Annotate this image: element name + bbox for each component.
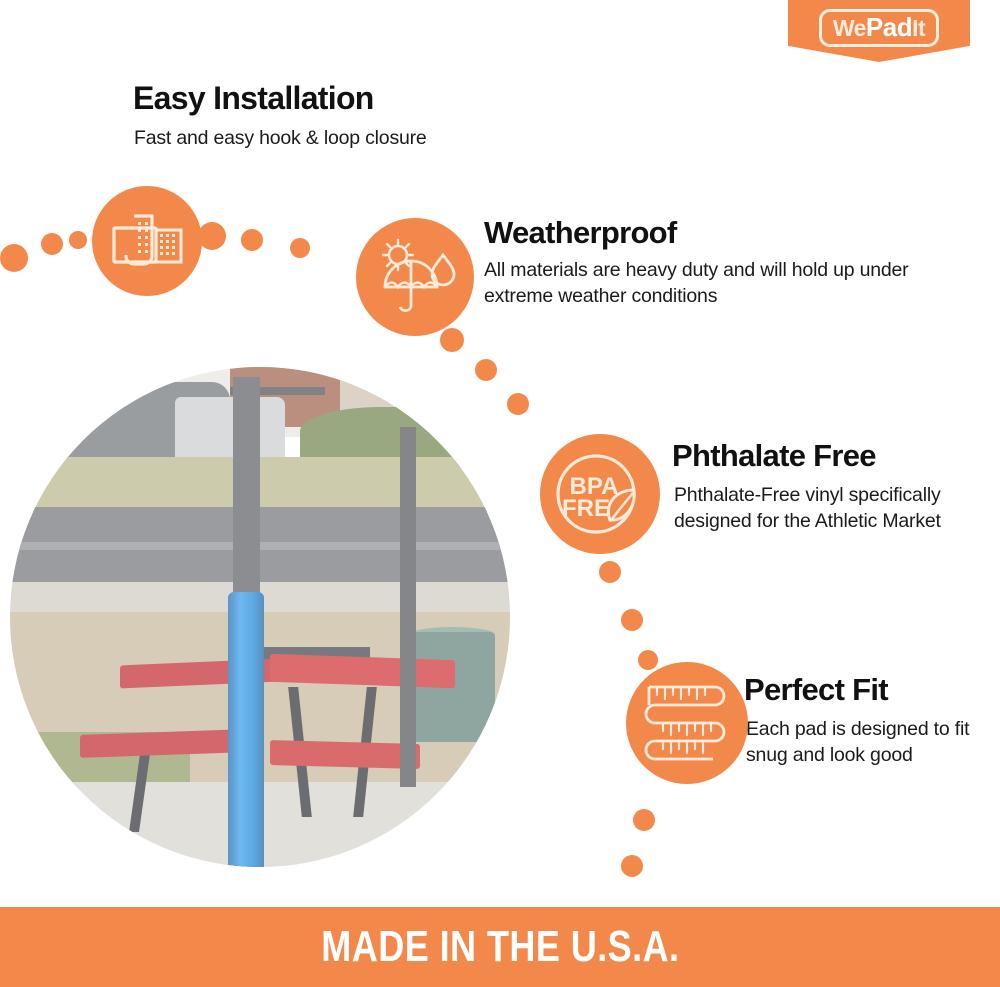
path-dot [599,561,621,583]
product-photo [10,367,510,867]
path-dot [507,393,529,415]
path-dot [440,328,464,352]
logo-text-pad: Pad [866,12,912,42]
feature-title-perfect-fit: Perfect Fit [744,672,888,708]
path-dot [633,809,655,831]
logo-text-it: It [912,15,925,41]
feature-title-phthalate-free: Phthalate Free [672,438,876,474]
feature-body-weatherproof: All materials are heavy duty and will ho… [484,257,914,310]
brand-logo-plate: WePadIt [819,9,939,47]
path-dot [621,855,643,877]
made-in-usa-banner: MADE IN THE U.S.A. [0,907,1000,987]
feature-title-weatherproof: Weatherproof [484,215,677,251]
infographic-page: WePadIt Easy Installation Fast and easy … [0,0,1000,987]
path-dot [41,233,63,255]
path-dot [638,650,658,670]
feature-body-phthalate-free: Phthalate-Free vinyl specifically design… [674,482,944,535]
feature-body-easy-installation: Fast and easy hook & loop closure [134,125,554,151]
path-dot [290,238,310,258]
path-dot [621,609,643,631]
path-dot [69,231,87,249]
made-in-usa-text: MADE IN THE U.S.A. [321,922,679,972]
path-dot [0,244,28,272]
bpa-free-leaf-icon: BPA FREE [540,434,660,554]
logo-text-we: We [833,15,866,41]
path-dot [241,229,263,251]
brand-logo-banner: WePadIt [788,0,970,62]
path-dot [198,222,226,250]
measuring-tape-icon [626,662,748,784]
sun-umbrella-raindrop-icon [356,218,474,336]
feature-body-perfect-fit: Each pad is designed to fit snug and loo… [746,716,986,769]
hook-and-loop-icon [92,186,202,296]
feature-title-easy-installation: Easy Installation [133,80,374,117]
